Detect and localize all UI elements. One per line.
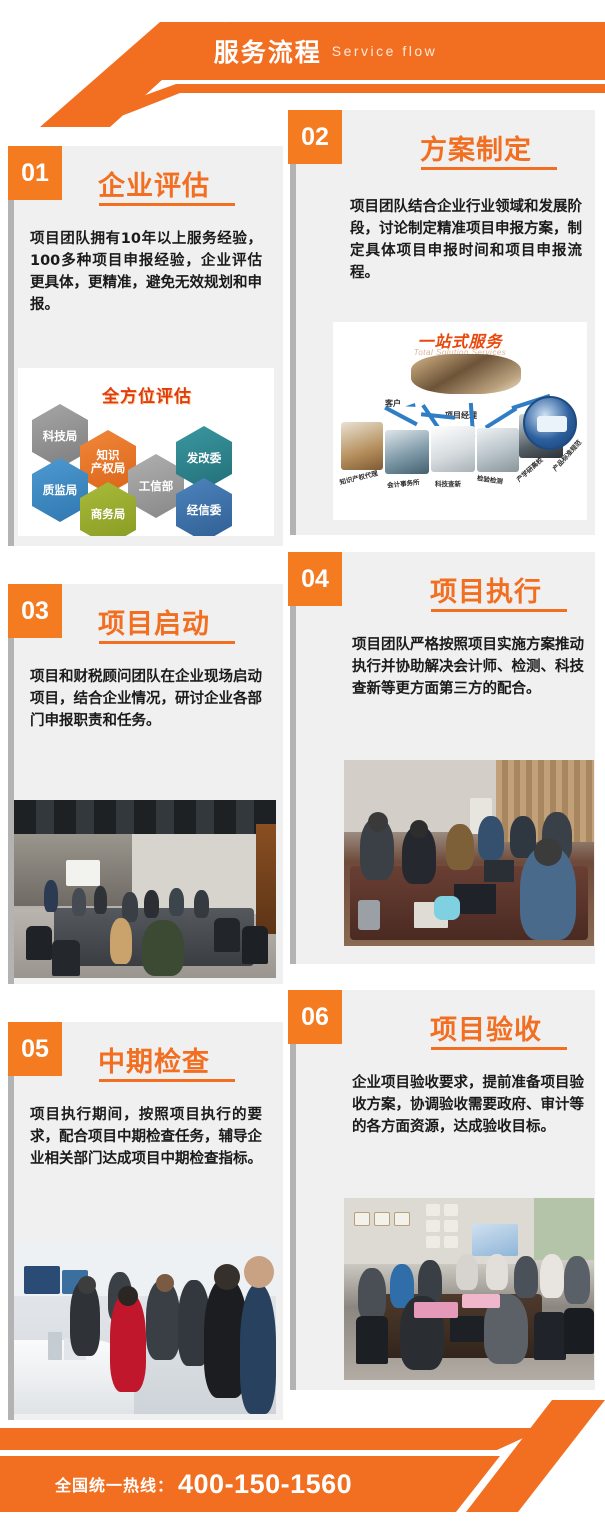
photo-chair — [26, 926, 52, 960]
card-03-photo — [14, 800, 276, 978]
footer-accent-stripe — [0, 1428, 605, 1450]
photo-green-board — [534, 1198, 594, 1260]
card-05-number-badge: 05 — [8, 1022, 62, 1076]
hex-node-shangwu-ju: 商务局 — [80, 482, 136, 536]
card-02-title: 方案制定 — [420, 128, 532, 167]
card-05-title-rule — [99, 1079, 235, 1082]
photo-laptop — [484, 860, 514, 882]
photo-person-head — [156, 1274, 174, 1292]
photo-chair — [242, 926, 268, 964]
figure-label-ip-agency: 知识产权代理 — [338, 467, 378, 486]
card-06-title: 项目验收 — [430, 1008, 542, 1047]
photo-person — [72, 888, 86, 916]
card-05-description: 项目执行期间，按照项目执行的要求，配合项目中期检查任务，辅导企业相关部门达成项目… — [30, 1104, 262, 1170]
figure-label-accounting-firm: 会计事务所 — [387, 476, 420, 489]
card-03-description: 项目和财税顾问团队在企业现场启动项目，结合企业情况，研讨企业各部门申报职责和任务… — [30, 666, 262, 732]
photo-person — [169, 888, 184, 916]
photo-person-red-coat — [110, 1292, 146, 1392]
card-01-figure: 全方位评估 科技局 知识 产权局 质监局 工信部 发改委 商务局 经信委 — [18, 368, 274, 536]
card-04-description: 项目团队严格按照项目实施方案推动执行并协助解决会计师、检测、科技查新等更方面第三… — [352, 634, 584, 700]
photo-person-head — [534, 838, 562, 866]
photo-person — [446, 824, 474, 870]
card-03-title: 项目启动 — [98, 602, 210, 641]
card-01-title: 企业评估 — [98, 164, 210, 203]
card-05-title: 中期检查 — [98, 1040, 210, 1079]
photo-person-head — [410, 820, 428, 838]
hex-node-jingxin-wei: 经信委 — [176, 478, 232, 536]
photo-person-head — [78, 1276, 96, 1294]
photo-person — [194, 890, 209, 918]
header-title-group: 服务流程 Service flow — [0, 22, 605, 80]
figure-node-photo-ip — [341, 422, 383, 470]
photo-certificate — [394, 1212, 410, 1226]
figure-center-photo — [411, 354, 521, 394]
photo-chair — [214, 918, 240, 952]
photo-person — [514, 1256, 538, 1298]
card-02-figure: 一站式服务 Total Solution Services 客户 项目经理 — [333, 322, 587, 520]
card-05-photo — [14, 1244, 276, 1414]
photo-whiteboard — [66, 860, 100, 886]
footer-hotline-group: 全国统一热线： 400-150-1560 — [55, 1456, 352, 1512]
footer-hotline-label: 全国统一热线： — [55, 1472, 174, 1496]
photo-chair — [356, 1316, 388, 1364]
card-01-number-badge: 01 — [8, 146, 62, 200]
figure-title-quanfangwei: 全方位评估 — [102, 382, 192, 407]
card-03-number-badge: 03 — [8, 584, 62, 638]
photo-certificate — [354, 1212, 370, 1226]
photo-projector-screen — [472, 1224, 518, 1256]
figure-label-tech-search: 科技查新 — [435, 478, 461, 488]
photo-wood-panel — [256, 824, 276, 934]
card-01-description: 项目团队拥有10年以上服务经验，100多种项目申报经验，企业评估更具体，更精准，… — [30, 228, 262, 316]
photo-frame — [444, 1236, 458, 1248]
photo-frame — [426, 1204, 440, 1216]
photo-chair — [52, 940, 80, 976]
card-06-description: 企业项目验收要求，提前准备项目验收方案，协调验收需要政府、审计等的各方面资源，达… — [352, 1072, 584, 1138]
photo-laptop — [450, 1316, 484, 1342]
photo-device — [48, 1332, 62, 1360]
photo-laptop — [454, 884, 496, 914]
card-06-title-rule — [431, 1047, 567, 1050]
card-03-title-rule — [99, 641, 235, 644]
photo-person — [478, 816, 504, 860]
page-title: 服务流程 — [214, 33, 322, 69]
page-header: 服务流程 Service flow — [0, 0, 605, 110]
photo-person — [456, 1254, 478, 1290]
photo-gift-boxes — [462, 1294, 500, 1308]
footer-hotline-number[interactable]: 400-150-1560 — [178, 1469, 352, 1500]
card-01-title-rule — [99, 203, 235, 206]
card-02-number-badge: 02 — [288, 110, 342, 164]
photo-chair — [534, 1312, 566, 1360]
photo-person-head — [244, 1256, 274, 1288]
figure-seal-icon — [523, 396, 577, 450]
card-04-title-rule — [431, 609, 567, 612]
figure-label-inspection: 检验检测 — [476, 472, 503, 486]
service-flow-infographic: 服务流程 Service flow 01 企业评估 项目团队拥有10年以上服务经… — [0, 0, 605, 1538]
hex-node-gongxin-bu: 工信部 — [128, 454, 184, 518]
photo-ceiling — [14, 800, 276, 834]
photo-certificate — [374, 1212, 390, 1226]
figure-node-photo-accounting — [385, 430, 429, 474]
card-06-photo — [344, 1198, 594, 1380]
photo-person — [44, 880, 58, 912]
photo-frame — [426, 1236, 440, 1248]
photo-person — [486, 1254, 508, 1290]
figure-node-photo-testing — [477, 428, 519, 472]
photo-person-head — [368, 812, 388, 832]
photo-chair — [564, 1308, 594, 1354]
photo-frame — [444, 1204, 458, 1216]
hex-node-zhijian-ju: 质监局 — [32, 458, 88, 522]
card-06-number-badge: 06 — [288, 990, 342, 1044]
figure-node-photo-search — [431, 426, 475, 472]
photo-frame — [444, 1220, 458, 1232]
photo-person-head — [214, 1264, 240, 1290]
photo-person — [358, 1268, 386, 1320]
photo-gift-boxes — [414, 1302, 458, 1318]
card-02-description: 项目团队结合企业行业领域和发展阶段，讨论制定精准项目申报方案，制定具体项目申报时… — [350, 196, 582, 284]
photo-person-green-coat — [142, 920, 184, 976]
card-04-number-badge: 04 — [288, 552, 342, 606]
photo-kettle — [358, 900, 380, 930]
photo-bag — [434, 896, 460, 920]
card-04-title: 项目执行 — [430, 570, 542, 609]
photo-person — [540, 1254, 564, 1298]
figure-arrow-3 — [384, 406, 418, 426]
photo-person — [144, 890, 159, 918]
photo-person-blue-coat — [240, 1284, 276, 1414]
card-02-title-rule — [421, 167, 557, 170]
page-subtitle: Service flow — [332, 43, 437, 59]
photo-person — [564, 1256, 590, 1304]
photo-person — [122, 892, 138, 922]
photo-person — [94, 886, 107, 914]
photo-frame — [426, 1220, 440, 1232]
photo-person — [146, 1280, 180, 1360]
photo-display-screen — [24, 1266, 60, 1294]
photo-person-head — [118, 1286, 138, 1306]
photo-person — [110, 918, 132, 964]
page-footer: 全国统一热线： 400-150-1560 — [0, 1400, 605, 1538]
card-04-photo — [344, 760, 594, 946]
